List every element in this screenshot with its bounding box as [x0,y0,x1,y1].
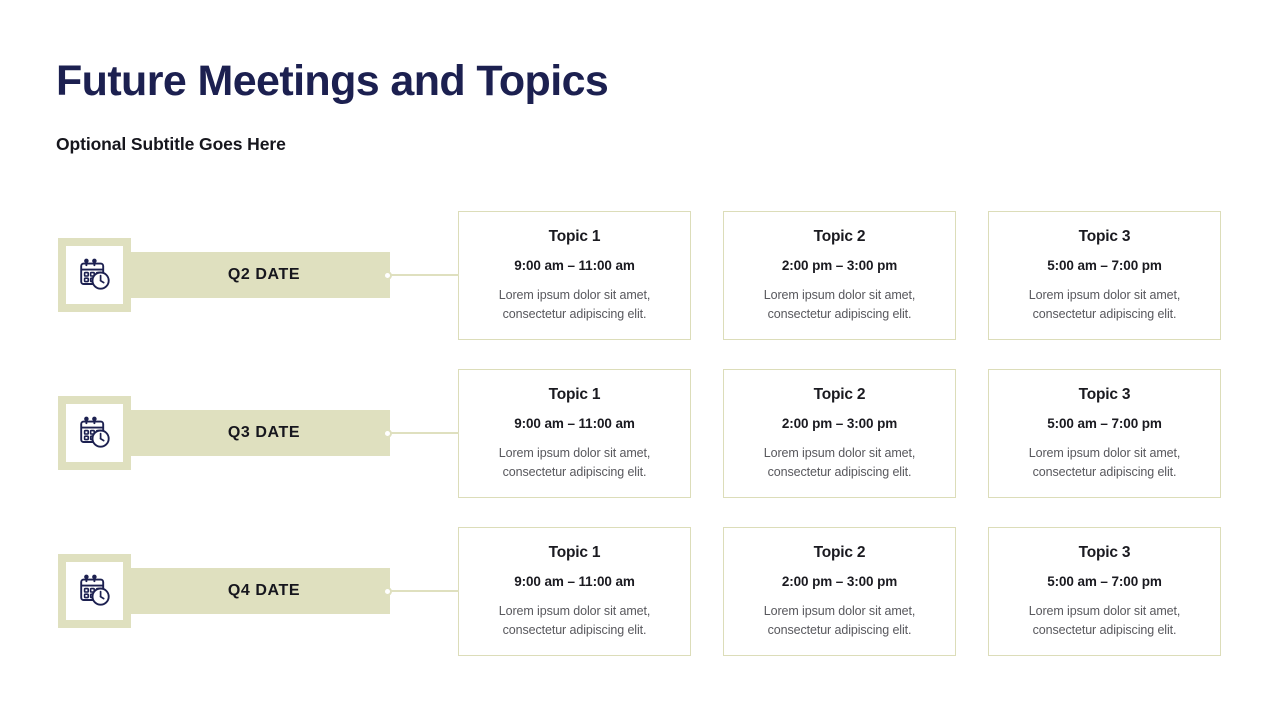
date-group: Q3 DATE [58,369,390,496]
slide-canvas: Future Meetings and Topics Optional Subt… [0,0,1280,720]
topic-card[interactable]: Topic 2 2:00 pm – 3:00 pm Lorem ipsum do… [723,211,956,340]
date-icon-tile [58,554,131,628]
topic-card-body: Lorem ipsum dolor sit amet, consectetur … [738,444,941,483]
topic-card-title: Topic 2 [738,544,941,562]
date-bar[interactable]: Q3 DATE [94,410,390,456]
topic-card-time: 5:00 am – 7:00 pm [1003,574,1206,589]
topic-card-body: Lorem ipsum dolor sit amet, consectetur … [1003,286,1206,325]
topic-card-title: Topic 3 [1003,544,1206,562]
topic-card-time: 9:00 am – 11:00 am [473,416,676,431]
connector-dot [383,429,392,438]
connector-dot [383,271,392,280]
page-subtitle: Optional Subtitle Goes Here [56,134,286,155]
topic-card-title: Topic 1 [473,544,676,562]
topic-card-title: Topic 2 [738,228,941,246]
topic-card-body: Lorem ipsum dolor sit amet, consectetur … [1003,602,1206,641]
date-group: Q2 DATE [58,211,390,338]
connector-line [391,590,459,592]
date-icon-tile [58,396,131,470]
date-group: Q4 DATE [58,527,390,654]
topic-card-body: Lorem ipsum dolor sit amet, consectetur … [473,602,676,641]
date-icon-tile-inner [66,562,123,620]
topic-card-list: Topic 1 9:00 am – 11:00 am Lorem ipsum d… [458,211,1223,340]
topic-card[interactable]: Topic 3 5:00 am – 7:00 pm Lorem ipsum do… [988,369,1221,498]
date-bar[interactable]: Q4 DATE [94,568,390,614]
date-bar[interactable]: Q2 DATE [94,252,390,298]
topic-card-body: Lorem ipsum dolor sit amet, consectetur … [473,444,676,483]
topic-card-title: Topic 1 [473,386,676,404]
topic-card[interactable]: Topic 2 2:00 pm – 3:00 pm Lorem ipsum do… [723,527,956,656]
topic-card-title: Topic 2 [738,386,941,404]
calendar-clock-icon [78,258,112,292]
topic-card[interactable]: Topic 1 9:00 am – 11:00 am Lorem ipsum d… [458,527,691,656]
calendar-clock-icon [78,416,112,450]
connector-line [391,274,459,276]
date-bar-label: Q4 DATE [184,582,300,600]
topic-card-time: 5:00 am – 7:00 pm [1003,258,1206,273]
calendar-clock-icon [78,574,112,608]
topic-card-title: Topic 1 [473,228,676,246]
topic-card[interactable]: Topic 3 5:00 am – 7:00 pm Lorem ipsum do… [988,527,1221,656]
topic-card-list: Topic 1 9:00 am – 11:00 am Lorem ipsum d… [458,527,1223,656]
topic-card-time: 9:00 am – 11:00 am [473,258,676,273]
topic-card[interactable]: Topic 3 5:00 am – 7:00 pm Lorem ipsum do… [988,211,1221,340]
topic-card-list: Topic 1 9:00 am – 11:00 am Lorem ipsum d… [458,369,1223,498]
topic-card-time: 2:00 pm – 3:00 pm [738,258,941,273]
date-icon-tile-inner [66,246,123,304]
topic-card-body: Lorem ipsum dolor sit amet, consectetur … [473,286,676,325]
date-icon-tile [58,238,131,312]
topic-card[interactable]: Topic 1 9:00 am – 11:00 am Lorem ipsum d… [458,211,691,340]
topic-card-body: Lorem ipsum dolor sit amet, consectetur … [738,286,941,325]
topic-card-title: Topic 3 [1003,386,1206,404]
topic-card-time: 5:00 am – 7:00 pm [1003,416,1206,431]
connector-line [391,432,459,434]
topic-card-body: Lorem ipsum dolor sit amet, consectetur … [738,602,941,641]
topic-card-time: 2:00 pm – 3:00 pm [738,416,941,431]
connector-dot [383,587,392,596]
topic-card-time: 9:00 am – 11:00 am [473,574,676,589]
topic-card-time: 2:00 pm – 3:00 pm [738,574,941,589]
topic-card[interactable]: Topic 2 2:00 pm – 3:00 pm Lorem ipsum do… [723,369,956,498]
date-bar-label: Q3 DATE [184,424,300,442]
date-bar-label: Q2 DATE [184,266,300,284]
page-title: Future Meetings and Topics [56,58,608,105]
topic-card-title: Topic 3 [1003,228,1206,246]
topic-card-body: Lorem ipsum dolor sit amet, consectetur … [1003,444,1206,483]
date-icon-tile-inner [66,404,123,462]
topic-card[interactable]: Topic 1 9:00 am – 11:00 am Lorem ipsum d… [458,369,691,498]
